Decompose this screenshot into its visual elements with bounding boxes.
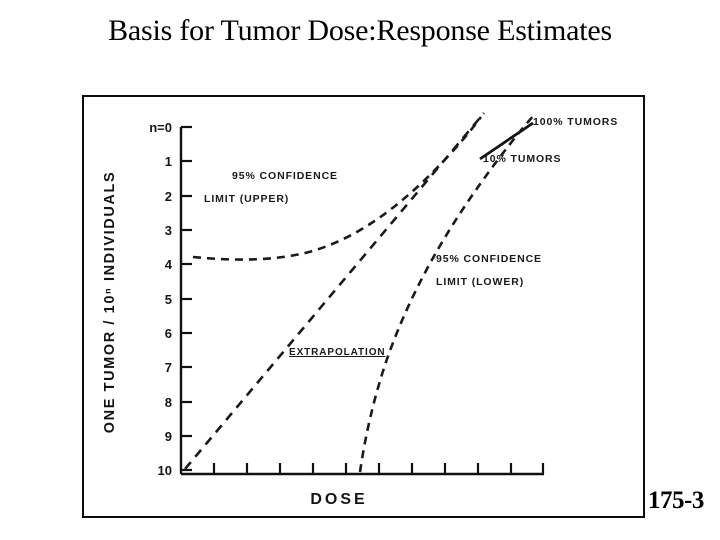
y-tick-label: 1 <box>165 154 172 169</box>
annotation-extrapolation: EXTRAPOLATION <box>289 347 386 358</box>
y-tick-label: 7 <box>165 360 172 375</box>
y-tick-label: 2 <box>165 189 172 204</box>
slide-number: 175-3 <box>648 487 704 515</box>
y-tick-label: 5 <box>165 292 172 307</box>
y-tick-label: n=0 <box>149 120 172 135</box>
figure-container: n=0 1 2 3 4 5 6 7 8 9 10 ONE TUM <box>82 95 645 518</box>
series-upper-confidence-limit <box>193 117 481 260</box>
y-tick-label: 3 <box>165 223 172 238</box>
y-tick-label: 8 <box>165 395 172 410</box>
x-axis-title: DOSE <box>310 491 367 508</box>
y-axis-ticks <box>181 127 192 470</box>
y-tick-label: 9 <box>165 429 172 444</box>
y-tick-label: 4 <box>165 257 173 272</box>
series-extrapolation-line <box>185 113 484 469</box>
page-title: Basis for Tumor Dose:Response Estimates <box>0 14 720 48</box>
annotation-upper-confidence-line1: 95% CONFIDENCE <box>232 170 338 182</box>
y-tick-label: 6 <box>165 326 172 341</box>
annotation-100-percent-tumors: 100% TUMORS <box>533 116 618 128</box>
annotation-lower-confidence-line1: 95% CONFIDENCE <box>436 253 542 265</box>
annotation-upper-confidence-line2: LIMIT (UPPER) <box>204 193 289 205</box>
x-axis-ticks <box>214 463 543 474</box>
annotation-10-percent-tumors: 10% TUMORS <box>483 153 561 165</box>
y-tick-label: 10 <box>158 463 172 478</box>
dose-response-chart: n=0 1 2 3 4 5 6 7 8 9 10 ONE TUM <box>84 97 647 520</box>
y-axis-tick-labels: n=0 1 2 3 4 5 6 7 8 9 10 <box>149 120 173 478</box>
y-axis-title: ONE TUMOR / 10ⁿ INDIVIDUALS <box>102 171 118 433</box>
series-lower-confidence-limit <box>360 115 534 472</box>
annotation-lower-confidence-line2: LIMIT (LOWER) <box>436 276 524 288</box>
